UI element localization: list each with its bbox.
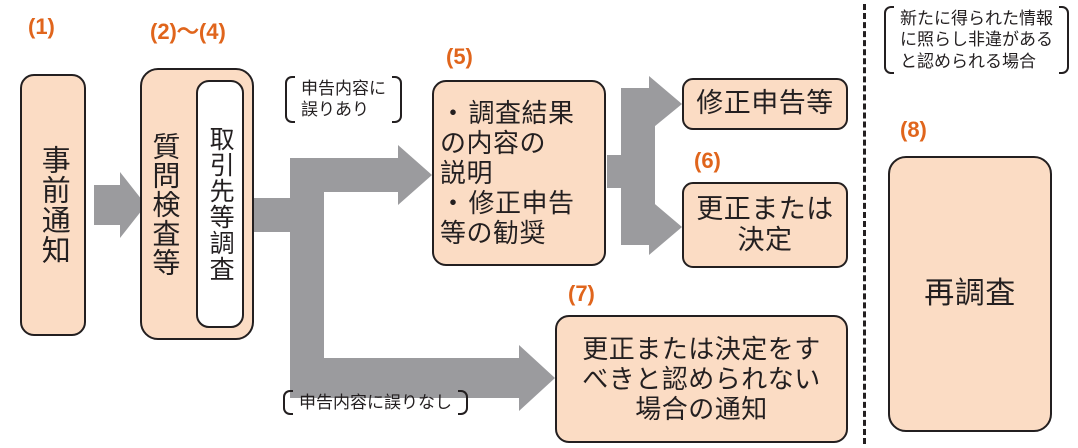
box-audit-result-explanation[interactable]: ・調査結果 の内容の 説明 ・修正申告 等の勧奨 — [432, 80, 606, 266]
caption-no-error: 申告内容に誤りなし — [283, 390, 468, 415]
box-counterparty-survey-label: 取引先等調査 — [207, 126, 233, 282]
box-no-correction-notice-label: 更正または決定をす べきと認められない 場合の通知 — [582, 334, 821, 424]
step-number-6: (6) — [694, 148, 721, 174]
box-step5-bullet-1: ・調査結果 の内容の 説明 — [440, 98, 598, 188]
arrow-step1-to-step2 — [94, 172, 146, 238]
box-questioning-inspection-label: 質問検査等 — [150, 102, 179, 306]
arrow-trunk-vertical — [290, 158, 324, 392]
box-amended-return[interactable]: 修正申告等 — [682, 78, 848, 130]
caption-new-information: 新たに得られた情報 に照らし非違がある と認められる場合 — [884, 6, 1069, 74]
flowchart-canvas: (1) 事前通知 (2)〜(4) 質問検査等 取引先等調査 申告内容に 誤りあり… — [0, 0, 1078, 448]
step-number-7: (7) — [568, 281, 595, 307]
box-prior-notice-label: 事前通知 — [38, 145, 68, 265]
step-number-1: (1) — [28, 14, 55, 40]
box-prior-notice[interactable]: 事前通知 — [20, 74, 86, 336]
step-number-8: (8) — [900, 117, 927, 143]
step-number-5: (5) — [446, 44, 473, 70]
box-no-correction-notice[interactable]: 更正または決定をす べきと認められない 場合の通知 — [555, 315, 848, 443]
caption-no-error-text: 申告内容に誤りなし — [293, 390, 458, 415]
step-number-2-4: (2)〜(4) — [150, 14, 226, 46]
box-step5-bullet-2: ・修正申告 等の勧奨 — [440, 188, 598, 248]
bullet-glyph: ・ — [440, 98, 467, 128]
bracket-left — [884, 6, 894, 74]
box-correction-or-decision-label: 更正または 決定 — [696, 194, 834, 257]
bracket-right — [458, 390, 468, 415]
arrow-trunk-stub — [254, 198, 293, 232]
bracket-right — [1059, 6, 1069, 74]
bracket-left — [283, 390, 293, 415]
box-questioning-inspection[interactable]: 質問検査等 取引先等調査 — [140, 68, 254, 340]
caption-error-found: 申告内容に 誤りあり — [285, 76, 402, 123]
box-reinvestigation[interactable]: 再調査 — [888, 156, 1052, 432]
caption-new-information-text: 新たに得られた情報 に照らし非違がある と認められる場合 — [894, 6, 1059, 74]
bullet-glyph: ・ — [440, 188, 467, 218]
section-divider — [863, 4, 866, 444]
bracket-left — [285, 76, 295, 123]
caption-error-found-text: 申告内容に 誤りあり — [295, 76, 392, 123]
box-reinvestigation-label: 再調査 — [924, 277, 1016, 312]
box-amended-return-label: 修正申告等 — [696, 88, 834, 119]
bracket-right — [392, 76, 402, 123]
box-correction-or-decision[interactable]: 更正または 決定 — [682, 182, 848, 268]
box-counterparty-survey[interactable]: 取引先等調査 — [196, 80, 244, 328]
